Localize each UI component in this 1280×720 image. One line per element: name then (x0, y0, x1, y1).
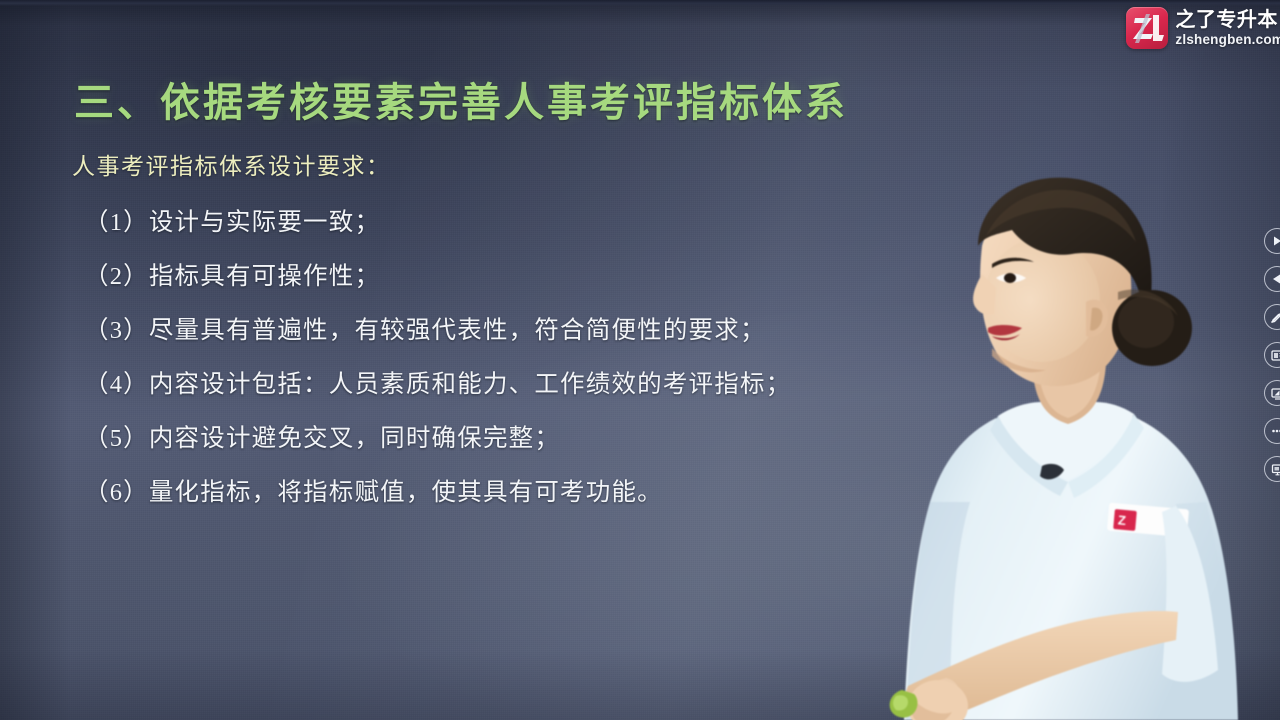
monitor-icon[interactable] (1264, 456, 1280, 482)
play-prev-icon[interactable] (1264, 266, 1280, 292)
whiteboard-icon[interactable] (1264, 342, 1280, 368)
screen-share-icon[interactable] (1264, 380, 1280, 406)
slide-subtitle: 人事考评指标体系设计要求： (72, 147, 391, 181)
brand-name: 之了专升本 (1175, 10, 1280, 30)
presenter-figure: Z (846, 150, 1280, 720)
svg-text:Z: Z (1117, 512, 1126, 528)
zl-monogram-icon (1126, 7, 1168, 49)
logo-text-block: 之了专升本 zlshengben.com (1175, 10, 1280, 47)
player-control-rail[interactable] (1264, 228, 1280, 482)
play-next-icon[interactable] (1264, 228, 1280, 254)
page-title: 三、依据考核要素完善人事考评指标体系 (74, 70, 848, 128)
more-icon[interactable] (1264, 418, 1280, 444)
brand-logo[interactable]: 之了专升本 zlshengben.com (1124, 4, 1280, 52)
pen-off-icon[interactable] (1264, 304, 1280, 330)
video-frame: Z 三、依据考核要素完善人事考评指标体系 人事考评指标体系设计要求： （1）设计… (0, 0, 1280, 720)
brand-url: zlshengben.com (1175, 33, 1280, 47)
